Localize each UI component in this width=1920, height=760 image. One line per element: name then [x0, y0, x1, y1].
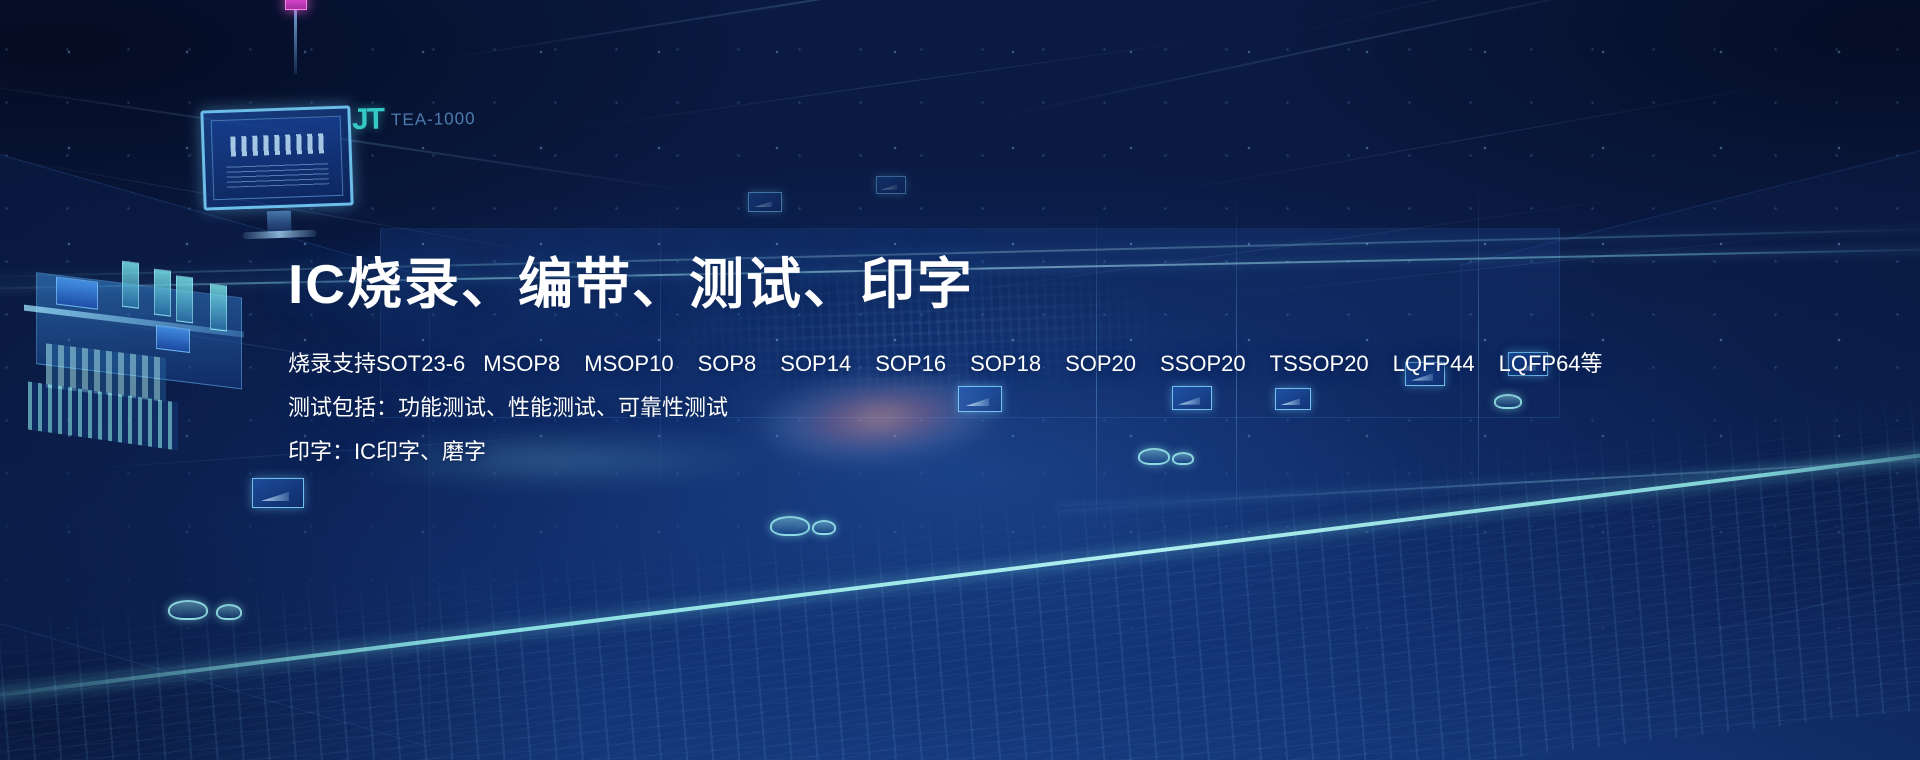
burn-support-line: 烧录支持SOT23-6 MSOP8 MSOP10 SOP8 SOP14 SOP1… [288, 353, 1568, 375]
light-streak [0, 78, 712, 195]
package-sop14: SOP14 [780, 353, 851, 375]
package-ssop20: SSOP20 [1160, 353, 1246, 375]
package-sop16: SOP16 [875, 353, 946, 375]
hero-banner: JT TEA-1000 IC烧录、编带、测试、印字 烧录支持SOT23-6 MS… [0, 0, 1920, 760]
indicator-light [285, 0, 307, 10]
package-msop10: MSOP10 [584, 353, 673, 375]
package-msop8: MSOP8 [483, 353, 560, 375]
jt-logo-mark: JT [352, 105, 384, 136]
trolley-wheel [216, 604, 242, 620]
light-streak [980, 0, 1704, 122]
marking-scope-line: 印字：IC印字、磨字 [288, 441, 1568, 463]
package-sop18: SOP18 [970, 353, 1041, 375]
monitor-screen-rows [226, 161, 329, 188]
screen-glyph-icon [748, 192, 782, 212]
monitor-screen-bars [230, 133, 325, 157]
trolley-wheel [812, 520, 836, 535]
test-scope-line: 测试包括：功能测试、性能测试、可靠性测试 [288, 397, 1568, 419]
light-streak [430, 0, 1122, 62]
machine-cylinder [122, 261, 139, 309]
indicator-pole [294, 8, 297, 74]
light-streak [700, 0, 1309, 23]
trolley-wheel [168, 600, 208, 620]
burn-support-lead: 烧录支持SOT23-6 [288, 353, 465, 375]
package-lqfp44: LQFP44 [1393, 353, 1475, 375]
trolley-wheel [770, 516, 810, 536]
monitor-screen [211, 116, 344, 200]
jt-logo-model: TEA-1000 [391, 109, 476, 127]
machinery-cluster [18, 208, 248, 411]
light-streak [560, 35, 1234, 131]
service-detail-list: 烧录支持SOT23-6 MSOP8 MSOP10 SOP8 SOP14 SOP1… [288, 353, 1568, 463]
package-tssop20: TSSOP20 [1270, 353, 1369, 375]
jt-logo: JT TEA-1000 [352, 103, 476, 135]
monitor-illustration [200, 105, 353, 210]
machine-module [156, 325, 190, 353]
machine-module [56, 277, 98, 310]
package-sop20: SOP20 [1065, 353, 1136, 375]
light-streak [1260, 0, 1845, 41]
machine-cylinder [154, 269, 171, 317]
hero-copy-block: IC烧录、编带、测试、印字 烧录支持SOT23-6 MSOP8 MSOP10 S… [288, 250, 1568, 485]
page-title: IC烧录、编带、测试、印字 [288, 250, 1568, 319]
light-streak [1120, 78, 1810, 201]
package-sop8: SOP8 [698, 353, 757, 375]
machine-cylinder [210, 283, 227, 331]
package-lqfp64: LQFP64等 [1499, 353, 1603, 375]
machine-cylinder [176, 275, 193, 323]
screen-glyph-icon [876, 176, 906, 194]
